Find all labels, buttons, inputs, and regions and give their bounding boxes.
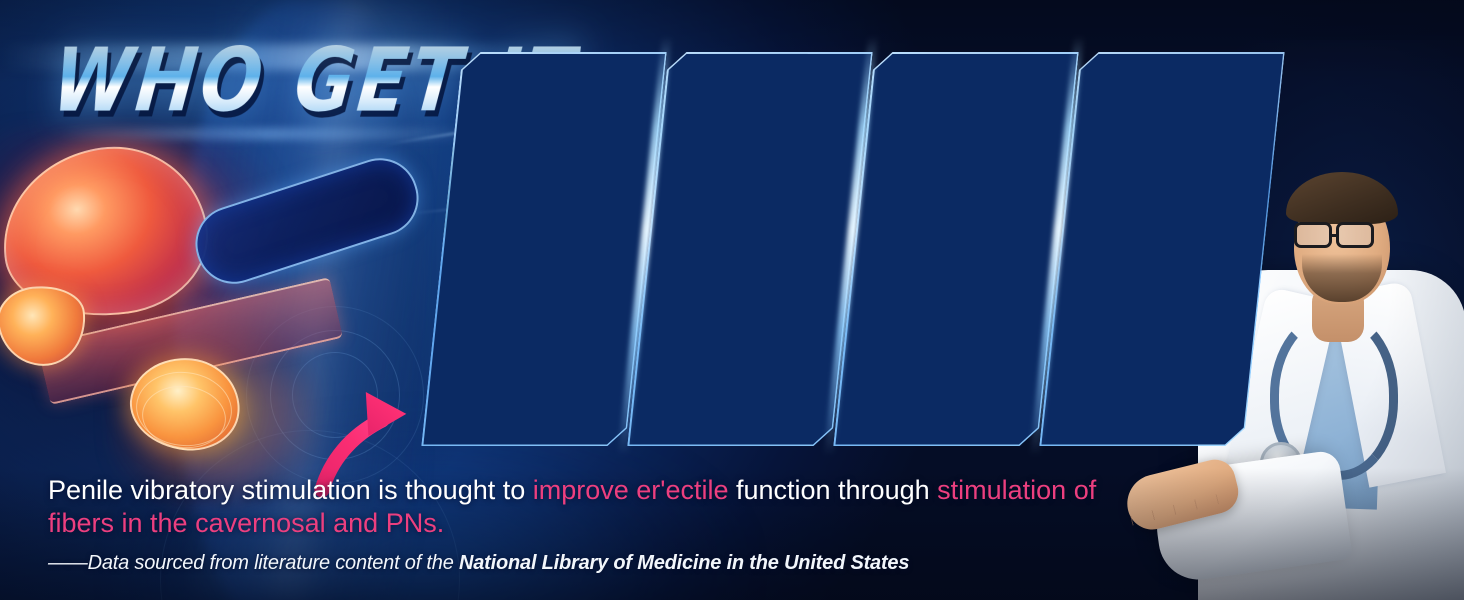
copy-block: Penile vibratory stimulation is thought … bbox=[48, 474, 1158, 575]
promo-banner: WHO GET IT Sensitive individuals Sedenta… bbox=[0, 0, 1464, 600]
source-institution: National Library of Medicine in the Unit… bbox=[459, 552, 909, 574]
source-prefix: ——Data sourced from literature content o… bbox=[48, 552, 459, 574]
doctor-glow bbox=[1124, 40, 1464, 600]
card-label-line1: Sensitive bbox=[435, 365, 623, 393]
card-label: Erectile difficulties bbox=[839, 365, 1043, 420]
card-label-line2: difficulties bbox=[847, 393, 1035, 421]
claim-text: Penile vibratory stimulation is thought … bbox=[48, 474, 1158, 540]
claim-highlight-1: improve er'ectile bbox=[533, 475, 729, 505]
claim-segment-2: function through bbox=[728, 475, 937, 505]
card-label-line1: Erectile bbox=[847, 365, 1035, 393]
card-label: Sedentary bbox=[633, 375, 837, 403]
persona-card-sedentary[interactable]: Sedentary bbox=[627, 52, 872, 446]
card-footer-gradient bbox=[627, 256, 851, 446]
card-label: Sensitive individuals bbox=[427, 365, 631, 420]
claim-segment-1: Penile vibratory stimulation is thought … bbox=[48, 475, 533, 505]
card-label-line1: Sedentary bbox=[641, 375, 829, 403]
source-citation: ——Data sourced from literature content o… bbox=[48, 552, 1158, 575]
persona-card-erectile-difficulties[interactable]: Erectile difficulties bbox=[833, 52, 1078, 446]
card-label-line2: individuals bbox=[435, 393, 623, 421]
persona-card-sensitive-individuals[interactable]: Sensitive individuals bbox=[421, 52, 666, 446]
